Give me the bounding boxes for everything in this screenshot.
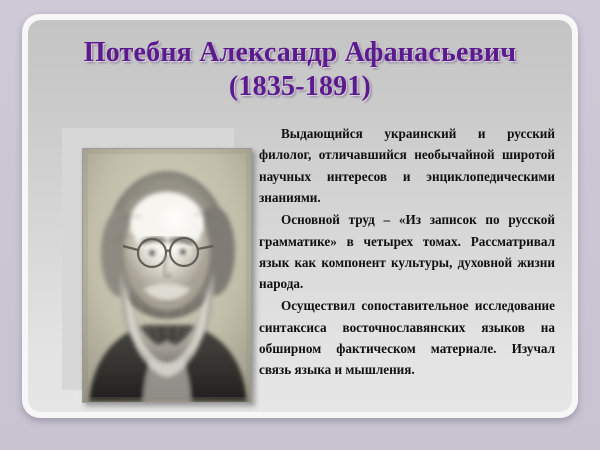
slide-content-frame: Потебня Александр Афанасьевич (1835-1891… [22, 14, 578, 418]
portrait-container [62, 128, 234, 390]
presentation-slide: Потебня Александр Афанасьевич (1835-1891… [0, 0, 600, 450]
portrait-image [83, 149, 251, 402]
paragraph-2: Основной труд – «Из записок по русской г… [259, 209, 555, 295]
paragraph-1: Выдающийся украинский и русский филолог,… [259, 123, 555, 209]
slide-inner-panel: Потебня Александр Афанасьевич (1835-1891… [28, 20, 572, 412]
paragraph-3: Осуществил сопоставительное исследование… [259, 295, 555, 381]
page-title: Потебня Александр Афанасьевич (1835-1891… [28, 36, 572, 104]
slide-body-text: Выдающийся украинский и русский филолог,… [259, 123, 555, 381]
portrait-photo [82, 148, 252, 403]
